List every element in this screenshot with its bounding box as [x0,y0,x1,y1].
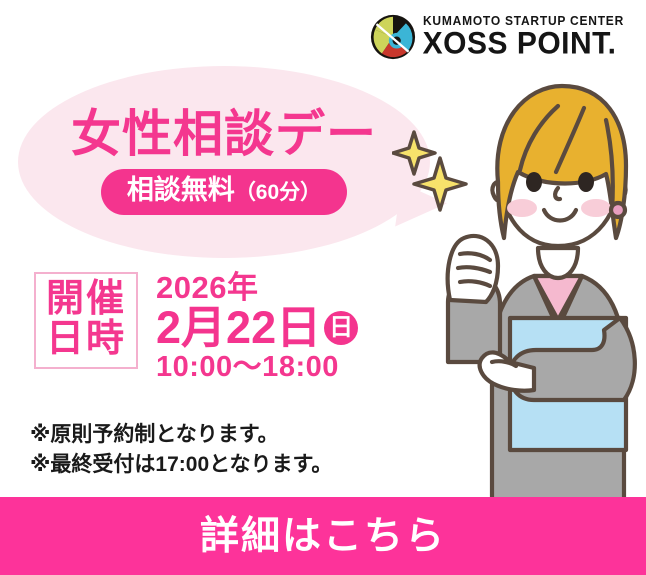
event-day-of-week-badge: 日 [324,311,358,345]
details-cta-label: 詳細はこちら [200,517,446,556]
event-label-line2: 日時 [46,320,126,360]
logo-wordmark: KUMAMOTO STARTUP CENTER XOSS POINT. [423,15,632,60]
free-consultation-badge: 相談無料（60分） [101,169,347,215]
logo-title: XOSS POINT. [423,29,632,61]
promo-banner: KUMAMOTO STARTUP CENTER XOSS POINT. 女性相談… [0,0,646,575]
event-datetime-value: 2026年 2月22日 日 10:00〜18:00 [156,272,358,382]
event-notes: ※原則予約制となります。 ※最終受付は17:00となります。 [30,420,332,480]
event-time-range: 10:00〜18:00 [156,353,358,382]
note-line: ※最終受付は17:00となります。 [30,450,332,480]
xoss-point-logo[interactable]: KUMAMOTO STARTUP CENTER XOSS POINT. [370,14,632,60]
details-cta-bar[interactable]: 詳細はこちら [0,497,646,575]
speech-bubble: 女性相談デー 相談無料（60分） [18,66,430,258]
note-line: ※原則予約制となります。 [30,420,332,450]
event-datetime-block: 開催 日時 2026年 2月22日 日 10:00〜18:00 [34,272,358,382]
badge-main-label: 相談無料 [127,176,235,206]
event-month-day: 2月22日 [156,305,321,350]
speech-bubble-content: 女性相談デー 相談無料（60分） [18,66,430,258]
event-year: 2026年 [156,272,358,303]
headline: 女性相談デー [71,109,377,159]
xoss-point-aperture-logo-icon [370,14,416,60]
event-datetime-label: 開催 日時 [34,272,138,369]
sparkle-decoration-icon [392,128,468,212]
event-date: 2月22日 日 [156,305,358,350]
event-label-line1: 開催 [46,280,126,320]
badge-duration-label: （60分） [235,181,321,204]
